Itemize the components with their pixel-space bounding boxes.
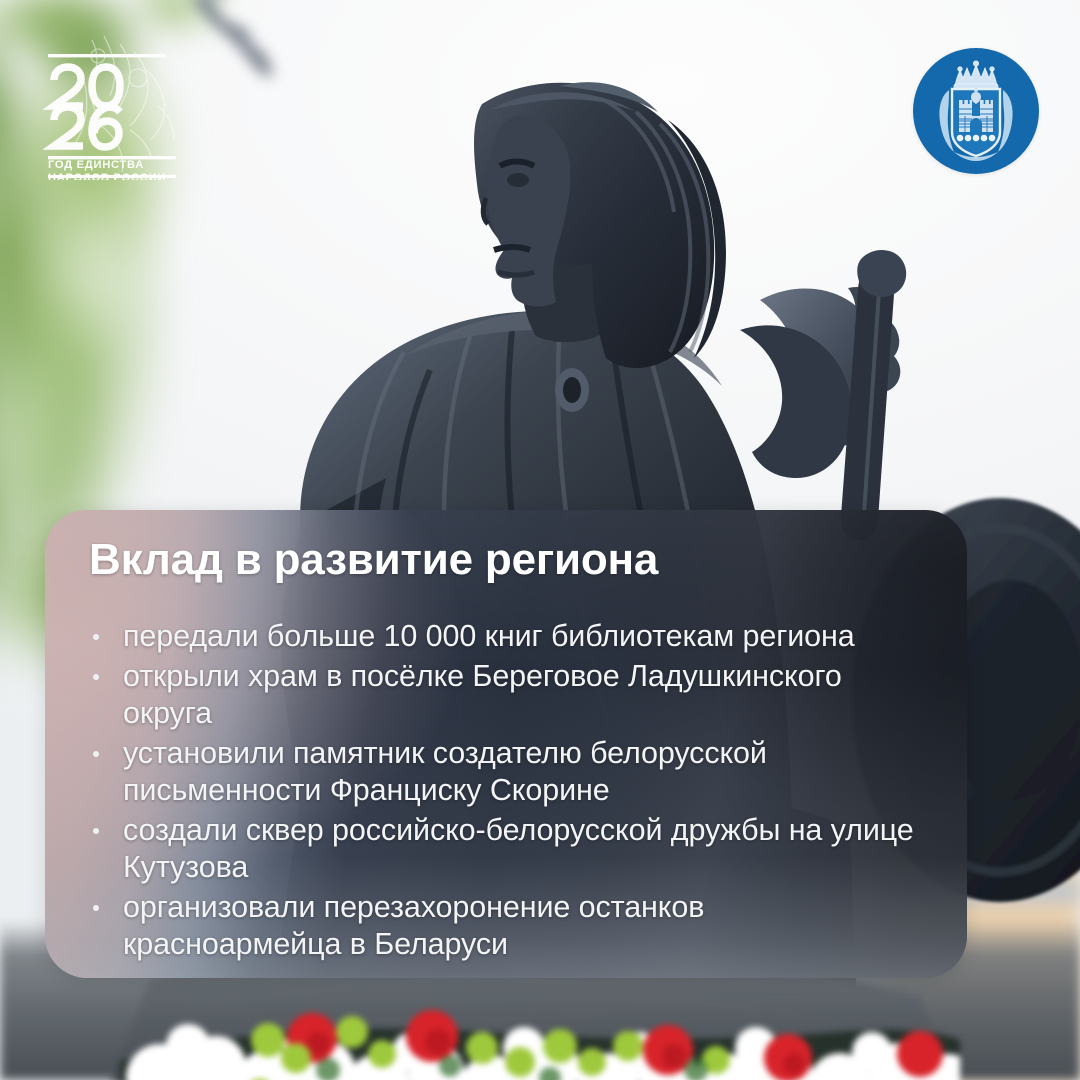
- logo-line-1: ГОД ЕДИНСТВА: [48, 159, 144, 171]
- bullet-dot-icon: [93, 634, 99, 640]
- list-item: создали сквер российско-белорусской друж…: [87, 812, 927, 886]
- card-title: Вклад в развитие региона: [87, 536, 927, 584]
- card-content: Вклад в развитие региона передали больше…: [45, 510, 967, 978]
- poster-canvas: ГОД ЕДИНСТВА НАРОДОВ РОССИИ: [0, 0, 1080, 1080]
- bullet-dot-icon: [93, 828, 99, 834]
- logo-line-2: НАРОДОВ РОССИИ: [48, 172, 166, 180]
- list-item: установили памятник создателю белорусско…: [87, 735, 927, 809]
- bullet-dot-icon: [93, 674, 99, 680]
- coat-of-arms-icon: [913, 48, 1039, 174]
- list-item: передали больше 10 000 книг библиотекам …: [87, 618, 927, 655]
- list-item-text: передали больше 10 000 книг библиотекам …: [123, 619, 855, 653]
- kaliningrad-oblast-emblem: [913, 48, 1039, 174]
- year-of-unity-logo: ГОД ЕДИНСТВА НАРОДОВ РОССИИ: [34, 34, 190, 180]
- info-card: Вклад в развитие региона передали больше…: [45, 510, 967, 978]
- achievements-list: передали больше 10 000 книг библиотекам …: [87, 618, 927, 963]
- bullet-dot-icon: [93, 905, 99, 911]
- flower-wreath: [120, 966, 960, 1080]
- list-item: открыли храм в посёлке Береговое Ладушки…: [87, 658, 927, 732]
- bullet-dot-icon: [93, 751, 99, 757]
- list-item-text: открыли храм в посёлке Береговое Ладушки…: [123, 659, 842, 730]
- list-item-text: создали сквер российско-белорусской друж…: [123, 813, 914, 884]
- list-item-text: организовали перезахоронение останков кр…: [123, 890, 704, 961]
- list-item-text: установили памятник создателю белорусско…: [123, 736, 767, 807]
- list-item: организовали перезахоронение останков кр…: [87, 889, 927, 963]
